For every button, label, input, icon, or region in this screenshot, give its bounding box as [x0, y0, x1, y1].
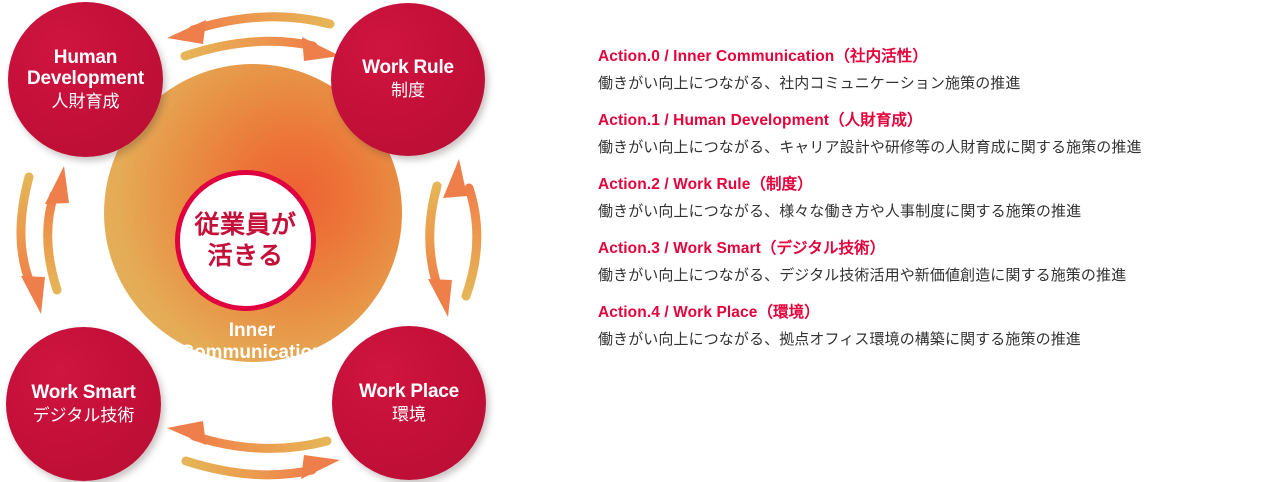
- node-work-rule-label-ja: 制度: [391, 80, 425, 102]
- action-heading: Action.4 / Work Place（環境）: [598, 300, 1258, 326]
- hub-label: Inner Communication 社内活性: [146, 320, 358, 388]
- action-list: Action.0 / Inner Communication（社内活性） 働きが…: [598, 44, 1258, 364]
- node-work-place-label-en: Work Place: [359, 381, 459, 402]
- action-heading: Action.2 / Work Rule（制度）: [598, 172, 1258, 198]
- node-human-development[interactable]: Human Development 人財育成: [8, 2, 163, 157]
- hub-center-text-line2: 活きる: [207, 242, 283, 270]
- action-heading: Action.0 / Inner Communication（社内活性）: [598, 44, 1258, 70]
- node-work-place[interactable]: Work Place 環境: [332, 326, 486, 480]
- action-body: 働きがい向上につながる、拠点オフィス環境の構築に関する施策の推進: [598, 326, 1258, 353]
- action-item: Action.0 / Inner Communication（社内活性） 働きが…: [598, 44, 1258, 97]
- action-body: 働きがい向上につながる、様々な働き方や人事制度に関する施策の推進: [598, 198, 1258, 225]
- action-item: Action.4 / Work Place（環境） 働きがい向上につながる、拠点…: [598, 300, 1258, 353]
- action-item: Action.1 / Human Development（人財育成） 働きがい向…: [598, 108, 1258, 161]
- hub-center-text: 従業員が 活きる: [194, 210, 296, 272]
- left-outer-arrow: [21, 177, 45, 314]
- hub-label-en-line2: Communication: [180, 342, 324, 363]
- right-inner-arrow: [428, 186, 452, 317]
- node-human-development-label-en: Human Development: [8, 47, 163, 89]
- hub-center-text-line1: 従業員が: [194, 211, 296, 239]
- right-outer-arrow: [443, 159, 477, 296]
- action-item: Action.3 / Work Smart（デジタル技術） 働きがい向上につなが…: [598, 236, 1258, 289]
- node-human-development-label-ja: 人財育成: [52, 91, 120, 113]
- hub-label-english: Inner Communication: [146, 320, 358, 364]
- bottom-inner-arrow: [186, 455, 340, 479]
- node-work-smart-label-en: Work Smart: [31, 382, 135, 403]
- bottom-outer-arrow: [167, 421, 327, 448]
- node-work-smart-label-ja: デジタル技術: [33, 405, 135, 427]
- action-item: Action.2 / Work Rule（制度） 働きがい向上につながる、様々な…: [598, 172, 1258, 225]
- action-body: 働きがい向上につながる、社内コミュニケーション施策の推進: [598, 70, 1258, 97]
- node-work-rule[interactable]: Work Rule 制度: [331, 3, 485, 156]
- circular-cycle-diagram: 従業員が 活きる Inner Communication 社内活性 Human …: [0, 0, 520, 482]
- action-body: 働きがい向上につながる、デジタル技術活用や新価値創造に関する施策の推進: [598, 262, 1258, 289]
- action-body: 働きがい向上につながる、キャリア設計や研修等の人財育成に関する施策の推進: [598, 134, 1258, 161]
- action-heading: Action.3 / Work Smart（デジタル技術）: [598, 236, 1258, 262]
- left-inner-arrow: [45, 166, 69, 290]
- node-work-place-label-ja: 環境: [392, 404, 426, 426]
- top-inner-arrow: [185, 37, 340, 61]
- hub-label-en-line1: Inner: [229, 320, 275, 341]
- node-work-smart[interactable]: Work Smart デジタル技術: [6, 327, 161, 481]
- node-work-rule-label-en: Work Rule: [362, 57, 454, 78]
- hub-label-japanese: 社内活性: [146, 364, 358, 388]
- hub-center-circle: 従業員が 活きる: [175, 170, 316, 311]
- action-heading: Action.1 / Human Development（人財育成）: [598, 108, 1258, 134]
